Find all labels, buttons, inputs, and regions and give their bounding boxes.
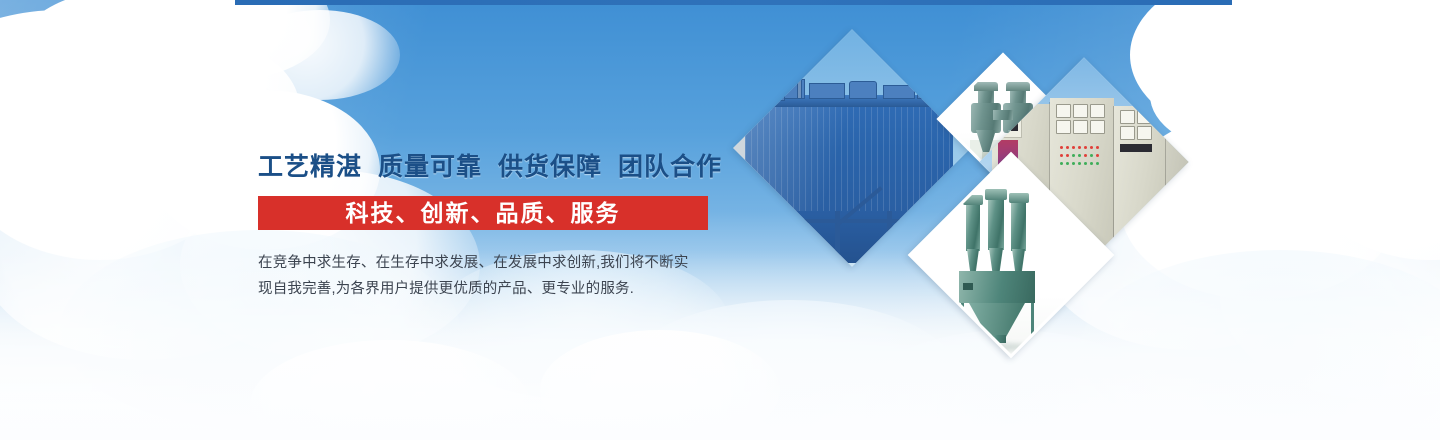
headline-part-3: 供货保障: [498, 153, 602, 181]
headline-part-4: 团队合作: [618, 153, 722, 181]
description-line-1: 在竞争中求生存、在生存中求发展、在发展中求创新,我们将不断实: [258, 250, 738, 276]
slogan-ribbon: 科技、创新、品质、服务: [258, 196, 708, 230]
product-image-collage: [760, 40, 1180, 380]
description-line-2: 现自我完善,为各界用户提供更优质的产品、更专业的服务.: [258, 276, 738, 302]
banner-text-block: 工艺精湛质量可靠供货保障团队合作 科技、创新、品质、服务 在竞争中求生存、在生存…: [258, 150, 738, 302]
top-accent-rule: [235, 0, 1232, 5]
banner-description: 在竞争中求生存、在生存中求发展、在发展中求创新,我们将不断实 现自我完善,为各界…: [258, 250, 738, 302]
hero-banner: 工艺精湛质量可靠供货保障团队合作 科技、创新、品质、服务 在竞争中求生存、在生存…: [0, 0, 1440, 440]
banner-headline: 工艺精湛质量可靠供货保障团队合作: [258, 150, 738, 184]
slogan-ribbon-text: 科技、创新、品质、服务: [346, 196, 621, 230]
headline-part-2: 质量可靠: [378, 153, 482, 181]
headline-part-1: 工艺精湛: [258, 153, 362, 181]
